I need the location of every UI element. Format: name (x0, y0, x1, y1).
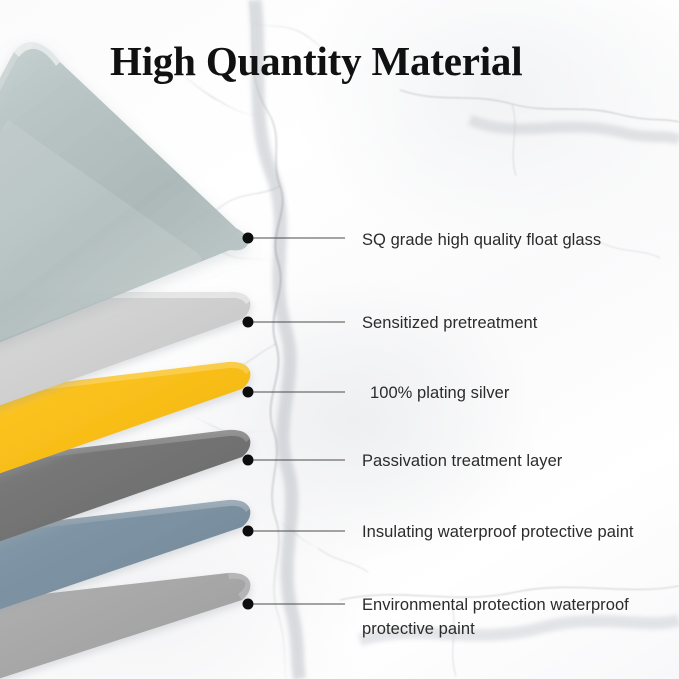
callout-label-float-glass: SQ grade high quality float glass (362, 228, 601, 252)
callout-group: SQ grade high quality float glass Sensit… (0, 0, 679, 679)
callout-dot-sensitized-pretreatment[interactable] (243, 317, 254, 328)
callout-leader-sensitized-pretreatment (253, 322, 345, 323)
callout-leader-environmental-protection-paint (253, 604, 345, 605)
callout-dot-environmental-protection-paint[interactable] (243, 599, 254, 610)
callout-label-passivation-layer: Passivation treatment layer (362, 449, 562, 473)
callout-label-plating-silver: 100% plating silver (370, 381, 509, 405)
callout-label-sensitized-pretreatment: Sensitized pretreatment (362, 311, 537, 335)
product-infographic: High Quantity Material (0, 0, 679, 679)
callout-dot-insulating-waterproof-paint[interactable] (243, 526, 254, 537)
callout-label-environmental-protection-paint: Environmental protection waterproof prot… (362, 593, 629, 641)
callout-leader-passivation-layer (253, 460, 345, 461)
callout-dot-passivation-layer[interactable] (243, 455, 254, 466)
callout-leader-plating-silver (253, 392, 345, 393)
callout-leader-insulating-waterproof-paint (253, 531, 345, 532)
callout-dot-float-glass[interactable] (243, 233, 254, 244)
callout-leader-float-glass (253, 238, 345, 239)
callout-label-insulating-waterproof-paint: Insulating waterproof protective paint (362, 520, 634, 544)
callout-dot-plating-silver[interactable] (243, 387, 254, 398)
